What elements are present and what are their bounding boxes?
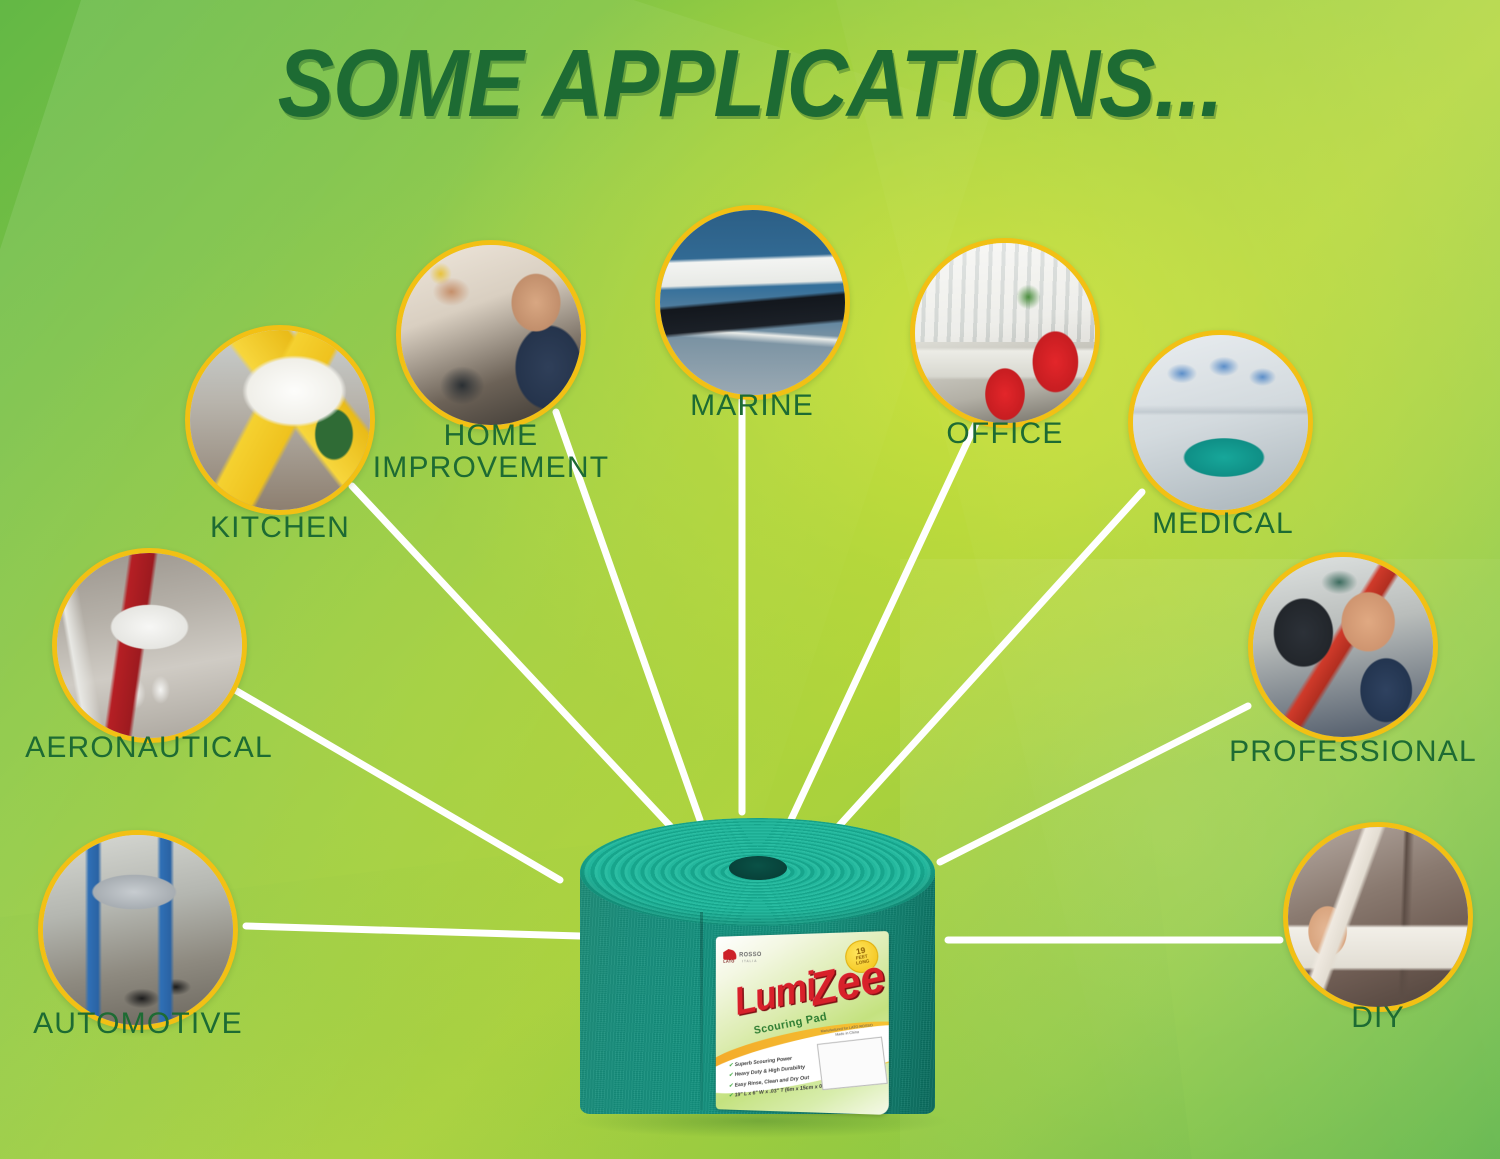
aeronautical-image <box>52 548 247 743</box>
manufacturer-box: Manufactured for LATO ROSSO Made in Chin… <box>815 1022 886 1096</box>
lato-rosso-logo: LATO ROSSO ITALIA <box>723 948 767 965</box>
logo-text-2: ROSSO <box>739 952 762 958</box>
office-image <box>910 238 1100 428</box>
connector-aeronautical <box>235 690 560 880</box>
kitchen-label: KITCHEN <box>150 512 410 544</box>
check-icon: ✔ <box>728 1073 733 1079</box>
roll-seam <box>700 912 703 1110</box>
check-icon: ✔ <box>728 1083 733 1089</box>
professional-label: PROFESSIONAL <box>1218 736 1488 768</box>
aeronautical-label: AERONAUTICAL <box>14 732 284 764</box>
logo-text-3: ITALIA <box>742 959 757 963</box>
roll-center-hole <box>729 856 787 880</box>
home-improvement-image <box>396 240 586 430</box>
logo-text-1: LATO <box>723 959 734 964</box>
connector-professional <box>940 706 1248 862</box>
connector-automotive <box>246 926 580 936</box>
kitchen-image <box>185 325 375 515</box>
professional-image <box>1248 552 1438 742</box>
automotive-label: AUTOMOTIVE <box>8 1008 268 1040</box>
medical-image <box>1128 330 1313 515</box>
check-icon: ✔ <box>728 1093 733 1099</box>
home-improvement-label: HOME IMPROVEMENT <box>371 420 611 484</box>
connector-office <box>790 404 985 822</box>
marine-image <box>655 205 850 400</box>
automotive-image <box>38 830 238 1030</box>
barcode-placeholder <box>817 1036 888 1090</box>
office-label: OFFICE <box>885 418 1125 450</box>
diy-image <box>1283 822 1473 1012</box>
brand-name-part2: Zee <box>806 947 889 1016</box>
medical-label: MEDICAL <box>1098 508 1348 540</box>
poster-canvas: SOME APPLICATIONS... KITCHEN HOME IMPROV… <box>0 0 1500 1159</box>
check-icon: ✔ <box>728 1062 733 1068</box>
product-roll[interactable]: LATO ROSSO ITALIA 19 FEET LONG Lumi Zee … <box>560 812 960 1159</box>
diy-label: DIY <box>1283 1002 1473 1034</box>
marine-label: MARINE <box>632 390 872 422</box>
product-label: LATO ROSSO ITALIA 19 FEET LONG Lumi Zee … <box>716 931 889 1115</box>
